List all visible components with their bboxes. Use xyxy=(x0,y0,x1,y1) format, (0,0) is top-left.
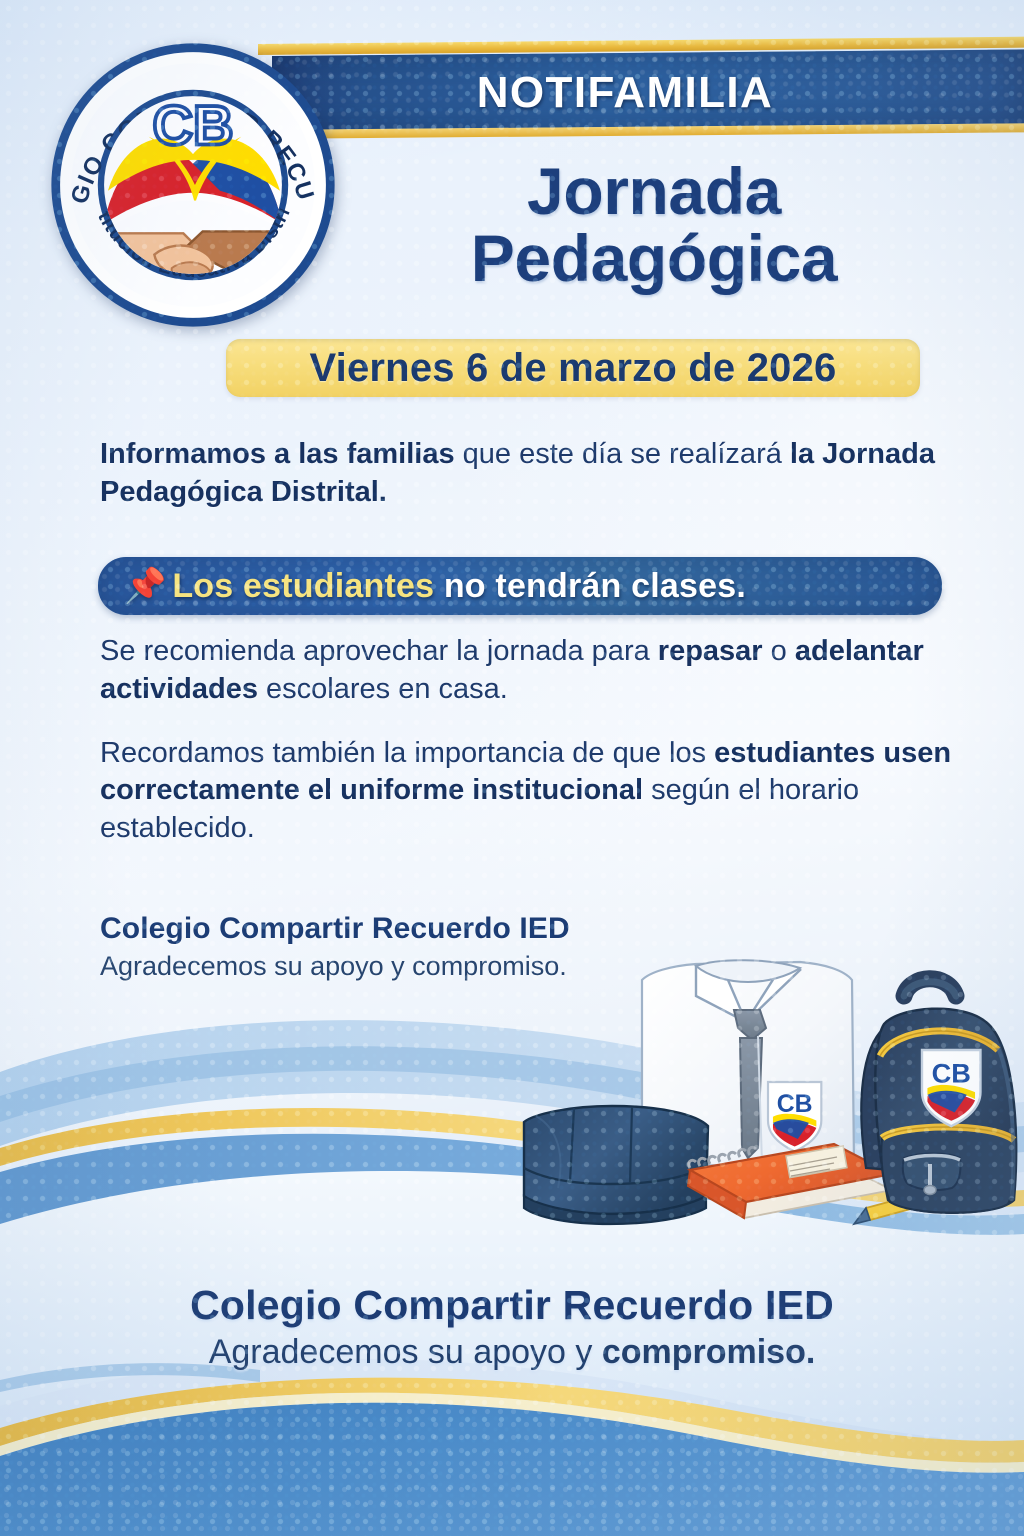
mid-signature: Colegio Compartir Recuerdo IED Agradecem… xyxy=(100,912,570,982)
page-title-line1: Jornada xyxy=(330,158,978,225)
footer-school: Colegio Compartir Recuerdo IED xyxy=(0,1282,1024,1329)
body-content: Informamos a las familias que este día s… xyxy=(100,436,1000,874)
paragraph-recomienda: Se recomienda aprovechar la jornada para… xyxy=(100,633,1000,708)
pushpin-icon: 📌 xyxy=(124,569,166,603)
seal-monogram: CB xyxy=(153,93,234,156)
svg-text:CB: CB xyxy=(932,1058,971,1089)
page-title-line2: Pedagógica xyxy=(330,225,978,292)
mid-signature-thanks: Agradecemos su apoyo y compromiso. xyxy=(100,951,570,982)
highlight-plain: no tendrán clases. xyxy=(434,567,746,605)
footer-thanks-plain: Agradecemos su apoyo y xyxy=(209,1333,602,1371)
footer-thanks-bold: compromiso. xyxy=(602,1333,815,1371)
p1-plain: que este día se realízará xyxy=(455,438,790,470)
mid-signature-school: Colegio Compartir Recuerdo IED xyxy=(100,912,570,946)
p2-bold-a: repasar xyxy=(658,635,763,667)
highlight-no-classes-bar: 📌 Los estudiantes no tendrán clases. xyxy=(98,557,942,615)
date-ribbon: Viernes 6 de marzo de 2026 xyxy=(226,339,920,397)
school-seal-logo: COLEGIO COMPARTIR RECUERDO Institucion E… xyxy=(48,40,338,330)
backpack: CB xyxy=(861,979,1016,1213)
p3-plain-a: Recordamos también la importancia de que… xyxy=(100,737,714,769)
p2-plain-b: o xyxy=(763,635,795,667)
notifamilia-poster: NOTIFAMILIA COLEGIO COMPARTIR RECUERDO I… xyxy=(0,0,1024,1536)
folded-trousers xyxy=(524,1106,708,1224)
date-text: Viernes 6 de marzo de 2026 xyxy=(310,346,837,391)
highlight-text: Los estudiantes no tendrán clases. xyxy=(172,567,746,606)
highlight-accent: Los estudiantes xyxy=(172,567,434,605)
school-uniform-illustration: CB xyxy=(500,952,1024,1272)
footer-signature: Colegio Compartir Recuerdo IED Agradecem… xyxy=(0,1282,1024,1372)
paragraph-informamos: Informamos a las familias que este día s… xyxy=(100,436,1000,511)
p2-plain-c: escolares en casa. xyxy=(258,673,508,705)
svg-text:CB: CB xyxy=(777,1091,813,1118)
page-title: Jornada Pedagógica xyxy=(330,158,978,293)
p1-bold-a: Informamos a las familias xyxy=(100,438,455,470)
banner-title: NOTIFAMILIA xyxy=(310,62,1024,124)
p2-plain-a: Se recomienda aprovechar la jornada para xyxy=(100,635,658,667)
footer-thanks: Agradecemos su apoyo y compromiso. xyxy=(0,1333,1024,1372)
paragraph-uniforme: Recordamos también la importancia de que… xyxy=(100,735,1000,848)
